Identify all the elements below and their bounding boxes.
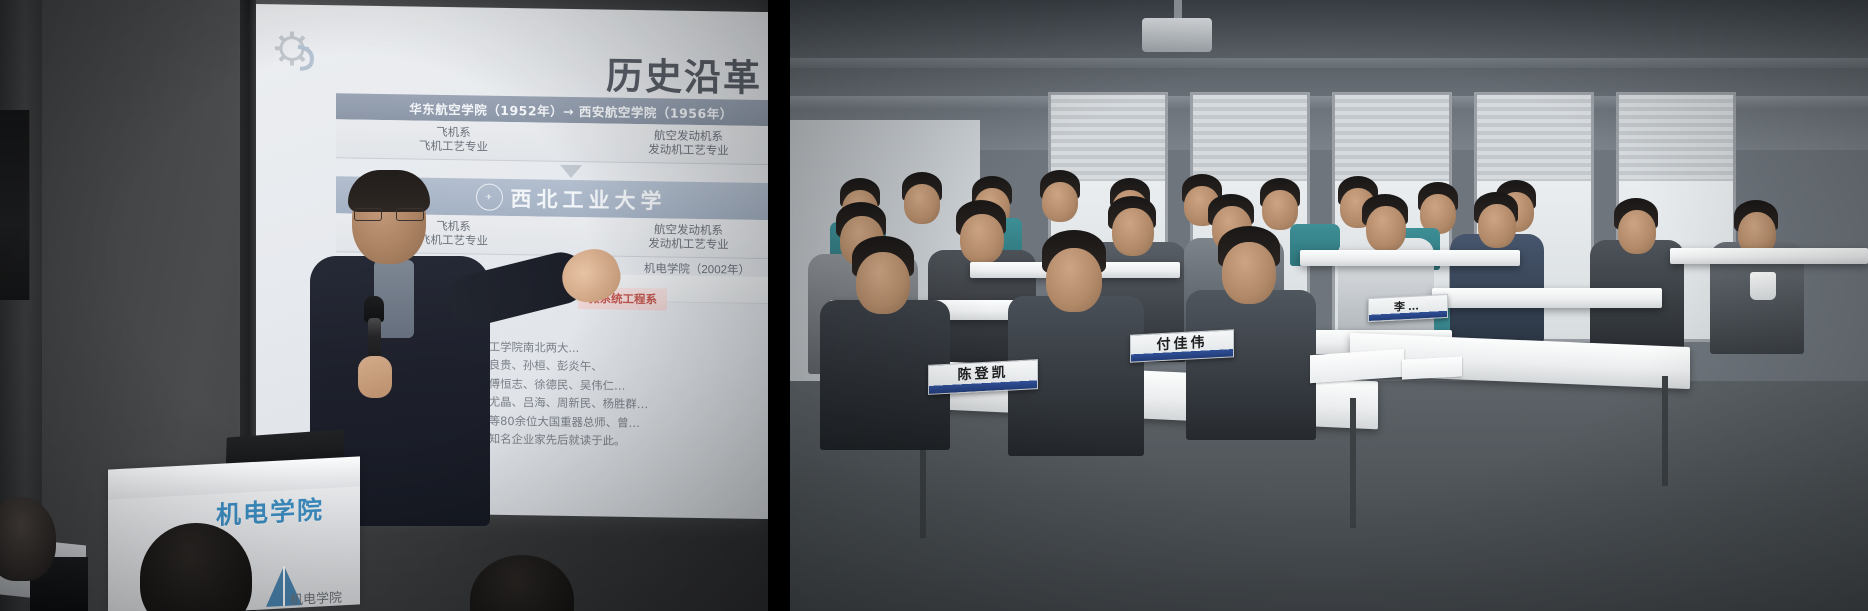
desk-back-right <box>1300 250 1520 266</box>
window-blind-1 <box>1051 95 1165 181</box>
ceiling-beam-2 <box>790 58 1868 68</box>
paper-handout-2 <box>1402 356 1462 379</box>
timeline-row-1-left: 飞机系飞机工艺专业 <box>336 119 571 160</box>
gear-icon <box>270 26 322 79</box>
presenter-mic-hand <box>358 356 392 398</box>
timeline-band-1-label: 华东航空学院（1952年）→ 西安航空学院（1956年） <box>409 101 732 121</box>
head-m2 <box>960 214 1004 264</box>
head-b4f <box>1042 182 1078 222</box>
slide-title: 历史沿革 <box>606 45 762 101</box>
wall-speaker-icon <box>0 110 30 300</box>
nameplate-2: 付佳伟 <box>1130 329 1234 362</box>
paper-handout <box>1310 349 1404 384</box>
glasses-icon <box>354 208 424 221</box>
desk-mid-right <box>1432 288 1662 308</box>
head-f3 <box>1222 242 1276 304</box>
right-photo-panel: 陈登凯 付佳伟 李… <box>790 0 1868 611</box>
desk-leg-2 <box>1350 398 1356 528</box>
window-blind-3 <box>1335 95 1449 181</box>
projector-mount <box>1174 0 1182 20</box>
desk-leg-3 <box>1662 376 1668 486</box>
presenter-hair <box>348 170 430 212</box>
nameplate-3: 李… <box>1368 294 1448 322</box>
podium-logo-text: 机电学院 <box>290 587 342 609</box>
head-m7 <box>1618 210 1656 254</box>
photo-composite: 历史沿革 华东航空学院（1952年）→ 西安航空学院（1956年） 飞机系飞机工… <box>0 0 1868 611</box>
head-m5 <box>1366 206 1406 252</box>
nameplate-3-label: 李… <box>1394 296 1422 312</box>
nameplate-2-label: 付佳伟 <box>1157 332 1208 353</box>
podium-label: 机电学院 <box>216 490 324 532</box>
head-m6 <box>1478 204 1516 248</box>
head-m3 <box>1112 208 1154 256</box>
head-b2f <box>904 184 940 224</box>
timeline-row-1: 飞机系飞机工艺专业 航空发动机系发动机工艺专业 <box>336 119 768 165</box>
body-f3 <box>1186 290 1316 440</box>
window-blind-4 <box>1477 95 1591 181</box>
nameplate-1: 陈登凯 <box>928 359 1038 395</box>
window-blind-5 <box>1619 95 1733 181</box>
timeline-row-1-right: 航空发动机系发动机工艺专业 <box>571 123 768 164</box>
nameplate-1-label: 陈登凯 <box>958 362 1009 383</box>
coffee-mug <box>1750 272 1776 300</box>
ceiling-projector-icon <box>1142 18 1212 52</box>
head-f1 <box>856 252 910 314</box>
left-photo-panel: 历史沿革 华东航空学院（1952年）→ 西安航空学院（1956年） 飞机系飞机工… <box>0 0 768 611</box>
window-blind-2 <box>1193 95 1307 181</box>
desk-far-right <box>1670 248 1868 264</box>
panel-divider <box>768 0 790 611</box>
timeline-row-4-right: 机电学院（2002年） <box>644 260 750 278</box>
head-f2 <box>1046 248 1102 312</box>
